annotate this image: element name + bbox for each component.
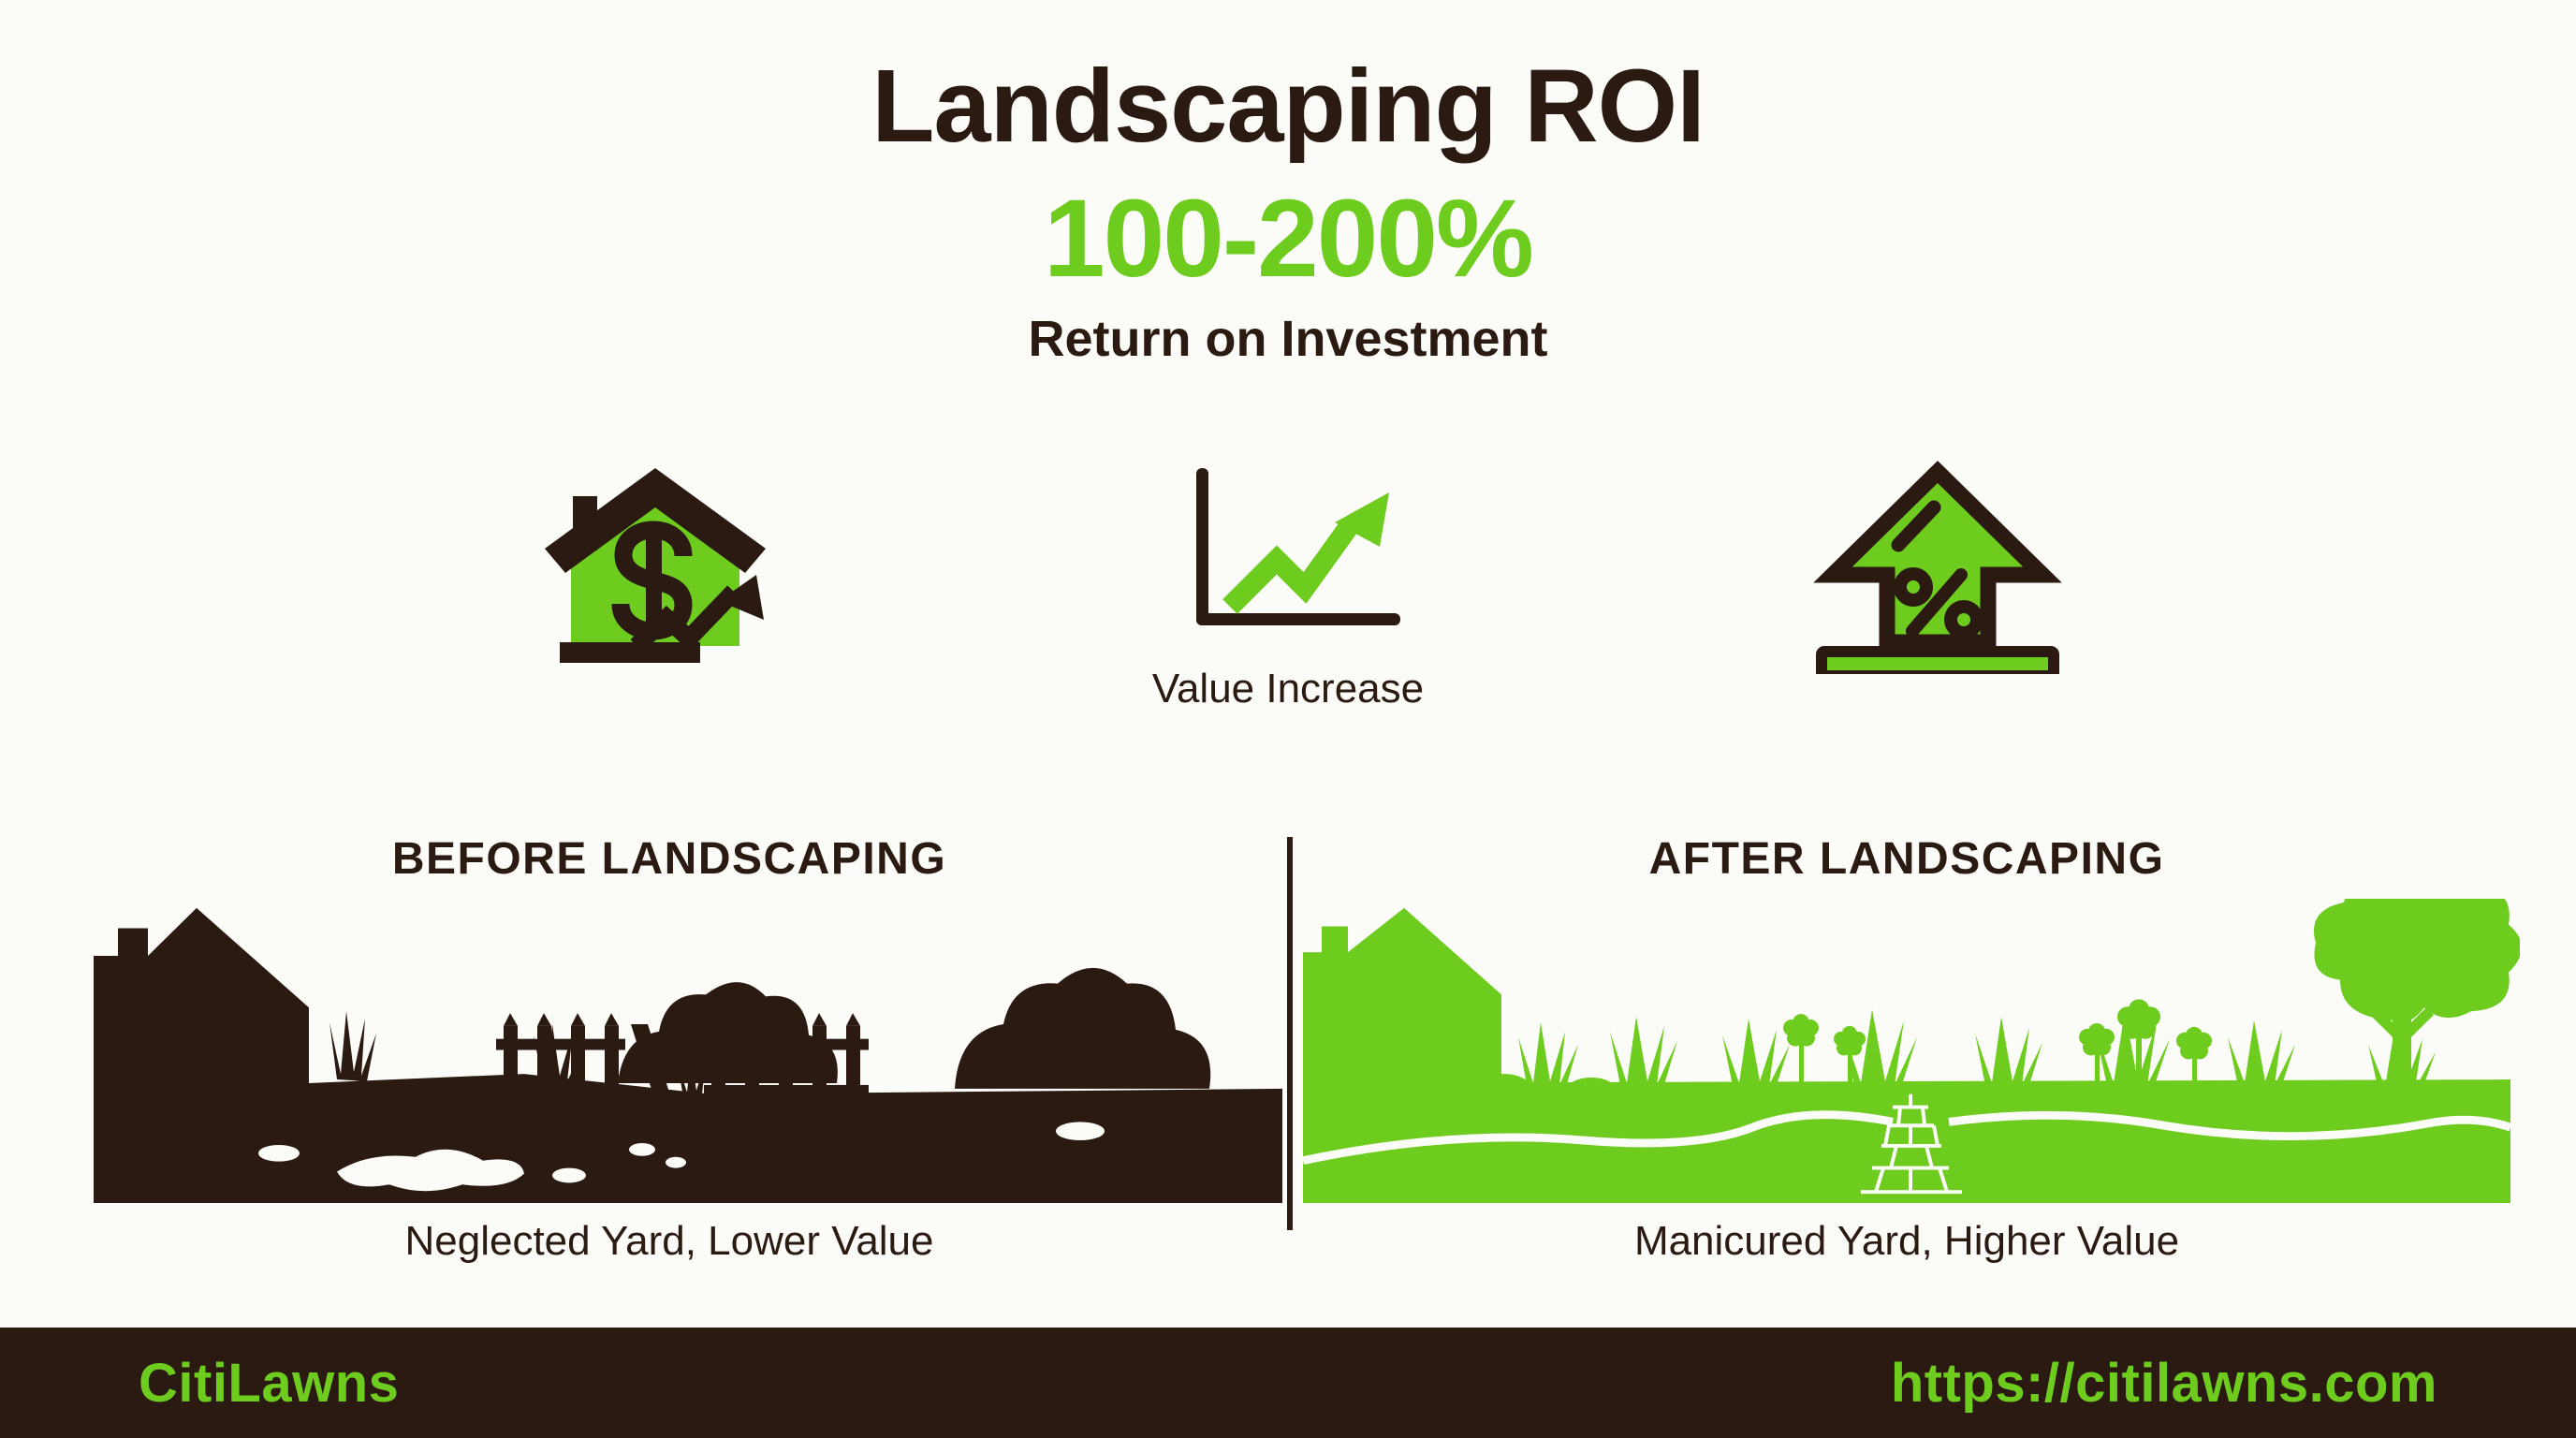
before-after-comparison: BEFORE LANDSCAPING: [0, 833, 2576, 1320]
value-increase-label: Value Increase: [998, 666, 1578, 712]
footer-bar: CitiLawns https://citilawns.com: [0, 1328, 2576, 1438]
brand-name: CitiLawns: [139, 1352, 399, 1415]
roi-subhead: Return on Investment: [0, 312, 2576, 367]
before-panel: BEFORE LANDSCAPING: [56, 833, 1282, 1320]
percent-up-arrow-icon: [1788, 459, 2087, 674]
website-url[interactable]: https://citilawns.com: [1891, 1352, 2437, 1415]
before-panel-art: [56, 899, 1282, 1203]
value-increase-icon-cell: Value Increase: [998, 459, 1578, 712]
line-chart-up-icon: [1138, 459, 1438, 655]
percent-growth-icon-cell: [1647, 459, 2228, 679]
before-panel-title: BEFORE LANDSCAPING: [56, 833, 1282, 899]
roi-headline: 100-200%: [0, 182, 2576, 298]
header: Landscaping ROI 100-200% Return on Inves…: [0, 52, 2576, 368]
house-dollar-growth-icon: [505, 459, 805, 674]
after-panel-title: AFTER LANDSCAPING: [1294, 833, 2520, 899]
panel-divider: [1287, 837, 1293, 1230]
before-panel-caption: Neglected Yard, Lower Value: [56, 1218, 1282, 1265]
icon-row: Value Increase: [0, 459, 2576, 768]
manicured-yard-silhouette: [1294, 899, 2520, 1203]
after-panel-art: [1294, 899, 2520, 1203]
after-panel-caption: Manicured Yard, Higher Value: [1294, 1218, 2520, 1265]
neglected-yard-silhouette: [56, 899, 1282, 1203]
infographic-poster: Landscaping ROI 100-200% Return on Inves…: [0, 0, 2576, 1438]
after-panel: AFTER LANDSCAPING: [1294, 833, 2520, 1320]
page-title: Landscaping ROI: [0, 52, 2576, 161]
house-value-icon-cell: [365, 459, 945, 679]
